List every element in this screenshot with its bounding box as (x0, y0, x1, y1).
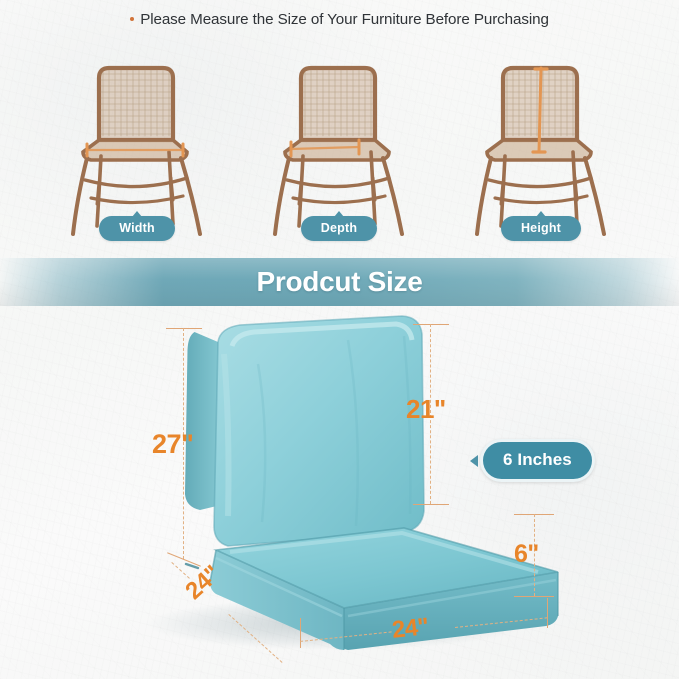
product-diagram: 27" 21" 6" 24" 24" 6 Inches (0, 306, 679, 679)
chair-label-height[interactable]: Height (501, 216, 581, 241)
dim-24-width-label: 24" (391, 613, 430, 645)
bullet-icon (130, 17, 134, 21)
dim-27-label: 27" (152, 429, 193, 460)
dim-24-width-right-tick (547, 598, 548, 628)
chair-label-width-text: Width (119, 221, 155, 235)
left-arrow-icon (470, 455, 478, 467)
page-title: Please Measure the Size of Your Furnitur… (0, 11, 679, 28)
dim-21-bottom-tick (413, 504, 449, 505)
cushion-image (0, 306, 679, 679)
section-banner-title: Prodcut Size (257, 266, 423, 298)
product-size-infographic: Please Measure the Size of Your Furnitur… (0, 0, 679, 679)
section-banner: Prodcut Size (0, 258, 679, 306)
dim-21-label: 21" (406, 394, 446, 425)
page-title-text: Please Measure the Size of Your Furnitur… (140, 11, 549, 28)
dim-6-bottom-tick (514, 596, 554, 597)
pointer-triangle-icon (536, 211, 546, 217)
chair-label-depth-text: Depth (321, 221, 357, 235)
chair-label-height-wrap: Height (441, 216, 641, 241)
chair-label-depth-wrap: Depth (239, 216, 439, 241)
dim-27-top-tick (166, 328, 202, 329)
chair-label-height-text: Height (521, 221, 561, 235)
chair-label-row: Width Depth Height (0, 216, 679, 256)
chair-label-width-wrap: Width (37, 216, 237, 241)
dim-21-top-tick (413, 324, 449, 325)
six-inches-label: 6 Inches (480, 439, 595, 482)
dim-24-width-left-tick (300, 618, 301, 648)
dim-6-label: 6" (514, 540, 539, 569)
chair-label-depth[interactable]: Depth (301, 216, 377, 241)
six-inches-callout[interactable]: 6 Inches (470, 439, 595, 482)
pointer-triangle-icon (334, 211, 344, 217)
chair-label-width[interactable]: Width (99, 216, 175, 241)
pointer-triangle-icon (132, 211, 142, 217)
